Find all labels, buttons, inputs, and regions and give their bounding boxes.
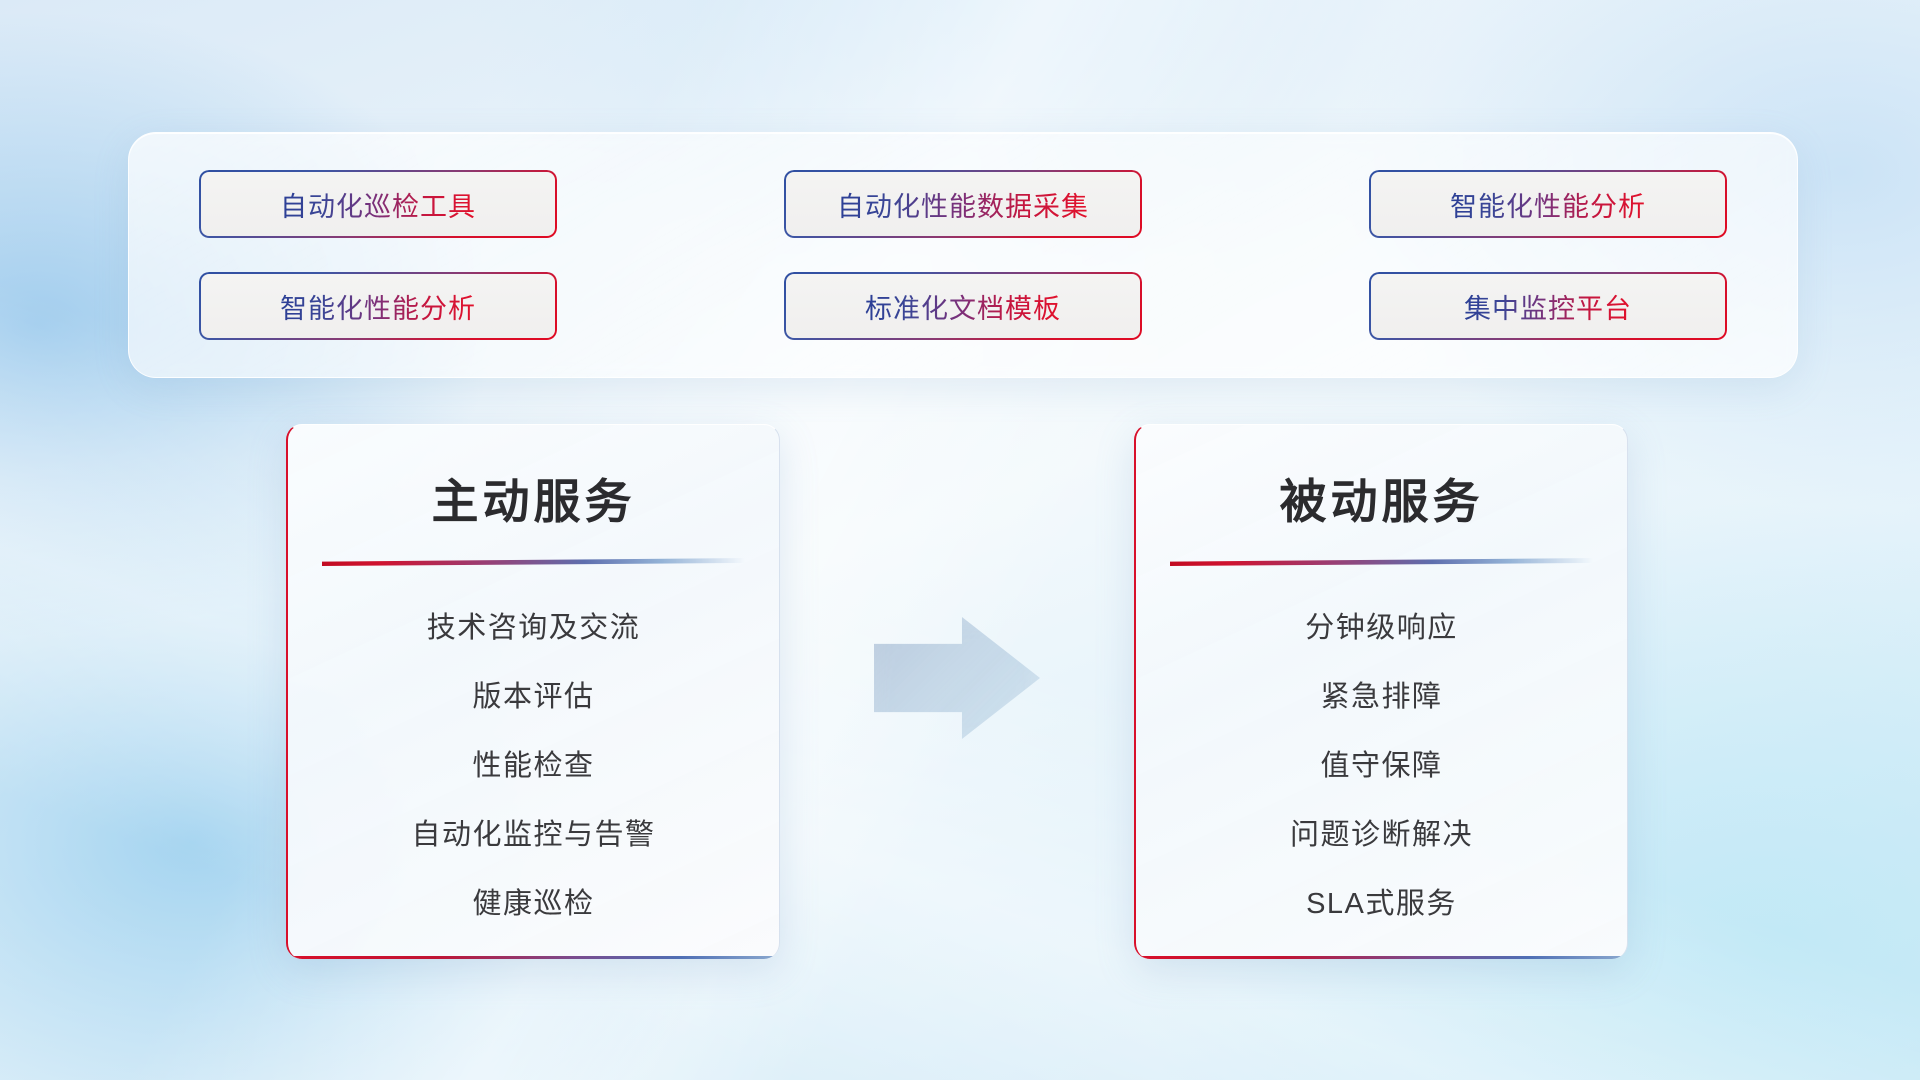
service-card-reactive[interactable]: 被动服务 分钟级响应 紧急排障 值守保障 问题诊断解决 SLA式服务 [1134,424,1628,959]
capability-pill-label: 自动化性能数据采集 [837,185,1089,224]
title-divider [1170,556,1593,568]
service-item-list: 技术咨询及交流 版本评估 性能检查 自动化监控与告警 健康巡检 [288,604,779,922]
capability-pill-centralized-monitoring-platform[interactable]: 集中监控平台 [1369,272,1727,340]
list-item: 技术咨询及交流 [427,604,641,646]
list-item: 问题诊断解决 [1290,811,1473,853]
capability-pill-automated-inspection-tool[interactable]: 自动化巡检工具 [199,170,557,238]
capability-pill-standardized-document-template[interactable]: 标准化文档模板 [784,272,1142,340]
list-item: 性能检查 [472,742,594,784]
capability-pill-label: 智能化性能分析 [280,287,476,326]
capability-pill-label: 自动化巡检工具 [280,185,476,224]
service-card-title: 主动服务 [288,463,779,532]
service-card-proactive[interactable]: 主动服务 技术咨询及交流 版本评估 性能检查 自动化监控与告警 健康巡检 [286,424,780,959]
arrow-right-icon [874,617,1040,739]
title-divider [322,556,745,568]
capability-pill-automated-performance-data-collection[interactable]: 自动化性能数据采集 [784,170,1142,238]
list-item: 值守保障 [1320,742,1442,784]
capability-row-2: 智能化性能分析 标准化文档模板 集中监控平台 [199,272,1727,340]
list-item: 版本评估 [472,673,594,715]
list-item: SLA式服务 [1306,880,1457,922]
diagram-canvas: 自动化巡检工具 自动化性能数据采集 智能化性能分析 智能化性能分析 标准化文档模… [0,0,1920,1080]
service-item-list: 分钟级响应 紧急排障 值守保障 问题诊断解决 SLA式服务 [1136,604,1627,922]
capability-pill-intelligent-performance-analysis[interactable]: 智能化性能分析 [1369,170,1727,238]
capability-row-1: 自动化巡检工具 自动化性能数据采集 智能化性能分析 [199,170,1727,238]
capability-pill-label: 智能化性能分析 [1450,185,1646,224]
capability-pill-label: 标准化文档模板 [865,287,1061,326]
list-item: 分钟级响应 [1305,604,1458,646]
capability-pill-intelligent-performance-analysis-2[interactable]: 智能化性能分析 [199,272,557,340]
capabilities-panel: 自动化巡检工具 自动化性能数据采集 智能化性能分析 智能化性能分析 标准化文档模… [128,132,1798,378]
capability-pill-label: 集中监控平台 [1464,287,1632,326]
list-item: 自动化监控与告警 [411,811,655,853]
list-item: 健康巡检 [472,880,594,922]
service-card-title: 被动服务 [1136,463,1627,532]
list-item: 紧急排障 [1320,673,1442,715]
